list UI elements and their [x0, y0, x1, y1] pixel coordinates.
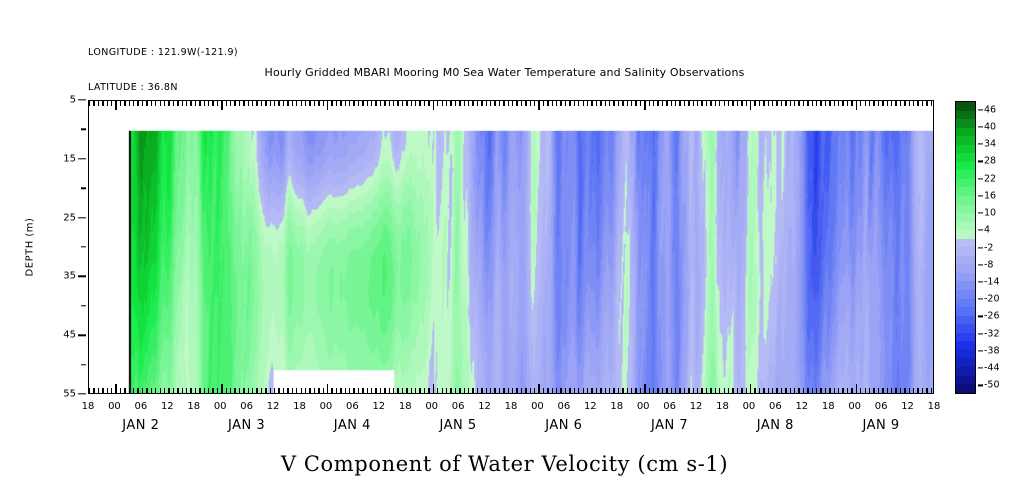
x-tick: [732, 101, 733, 106]
x-tick: [107, 101, 108, 106]
x-tick: [146, 388, 147, 393]
x-tick: [829, 101, 830, 106]
x-tick: [825, 388, 826, 393]
x-tick: [613, 388, 614, 393]
x-tick: [900, 388, 901, 393]
x-tick: [115, 101, 116, 110]
y-tick-label: 5: [70, 95, 76, 106]
colorbar-tick: [978, 143, 983, 144]
x-tick: [768, 101, 769, 106]
x-tick: [547, 101, 548, 106]
x-tick: [534, 101, 535, 106]
x-tick: [825, 101, 826, 106]
x-tick: [812, 388, 813, 393]
colorbar-tick: [978, 247, 983, 248]
colorbar-segment: [956, 205, 975, 214]
x-tick: [274, 101, 275, 106]
x-tick-label: 06: [769, 401, 782, 412]
colorbar-tick: [978, 350, 983, 351]
x-tick: [816, 388, 817, 393]
x-tick: [226, 388, 227, 393]
x-tick: [679, 388, 680, 393]
x-tick: [759, 388, 760, 393]
x-tick: [688, 388, 689, 393]
x-tick: [283, 101, 284, 106]
x-tick-label: 12: [478, 401, 491, 412]
x-tick: [155, 388, 156, 393]
x-tick: [186, 388, 187, 393]
x-tick: [102, 388, 103, 393]
latitude-text: LATITUDE : 36.8N: [88, 82, 238, 94]
x-tick: [292, 101, 293, 106]
x-tick: [164, 101, 165, 106]
x-tick: [565, 101, 566, 106]
x-tick: [270, 388, 271, 393]
x-tick: [402, 101, 403, 106]
x-tick: [124, 101, 125, 106]
x-tick: [137, 388, 138, 393]
x-tick: [926, 388, 927, 393]
x-tick: [248, 101, 249, 106]
x-tick: [375, 388, 376, 393]
x-tick: [212, 388, 213, 393]
x-tick: [182, 388, 183, 393]
x-tick: [384, 101, 385, 106]
colorbar-segment: [956, 247, 975, 256]
x-tick: [662, 101, 663, 106]
x-tick: [433, 384, 434, 393]
x-tick: [790, 388, 791, 393]
colorbar-segment: [956, 102, 975, 111]
x-tick: [776, 388, 777, 393]
x-tick: [503, 388, 504, 393]
x-tick: [358, 388, 359, 393]
x-tick: [785, 388, 786, 393]
colorbar-tick: [978, 161, 983, 162]
colorbar-segment: [956, 119, 975, 128]
x-tick-label: 12: [372, 401, 385, 412]
x-tick: [781, 101, 782, 106]
colorbar-segment: [956, 153, 975, 162]
x-day-label: JAN 3: [228, 418, 265, 433]
x-tick: [675, 388, 676, 393]
x-tick: [256, 388, 257, 393]
x-tick: [428, 101, 429, 106]
x-tick: [706, 388, 707, 393]
x-tick: [530, 101, 531, 106]
x-tick: [521, 388, 522, 393]
x-tick: [393, 101, 394, 106]
x-tick: [737, 388, 738, 393]
x-tick: [565, 388, 566, 393]
y-axis-title: DEPTH (m): [25, 218, 36, 277]
x-tick-label: 00: [425, 401, 438, 412]
colorbar-segment: [956, 162, 975, 171]
colorbar-tick-label: -50: [984, 380, 1000, 391]
x-tick: [649, 101, 650, 106]
x-tick: [186, 101, 187, 106]
x-tick: [785, 101, 786, 106]
x-tick: [591, 101, 592, 106]
colorbar-segment: [956, 136, 975, 145]
x-tick: [411, 388, 412, 393]
x-tick: [552, 388, 553, 393]
x-tick: [600, 101, 601, 106]
x-tick: [204, 388, 205, 393]
x-tick: [847, 388, 848, 393]
colorbar-segment: [956, 341, 975, 350]
colorbar-tick-label: -20: [984, 294, 1000, 305]
x-tick: [486, 388, 487, 393]
x-tick: [234, 388, 235, 393]
y-tick-label: 55: [63, 389, 76, 400]
x-tick: [115, 384, 116, 393]
x-tick: [173, 101, 174, 106]
colorbar-segment: [956, 281, 975, 290]
x-tick: [393, 388, 394, 393]
x-tick: [860, 388, 861, 393]
x-tick: [133, 101, 134, 106]
x-tick: [173, 388, 174, 393]
colorbar-segment: [956, 384, 975, 393]
x-tick: [605, 388, 606, 393]
y-tick: [78, 334, 86, 335]
x-tick: [349, 388, 350, 393]
x-tick: [490, 101, 491, 106]
x-tick: [671, 101, 672, 106]
x-tick: [459, 101, 460, 106]
x-tick: [543, 101, 544, 106]
colorbar-tick: [978, 333, 983, 334]
y-tick-label: 45: [63, 330, 76, 341]
x-tick: [296, 388, 297, 393]
x-tick: [618, 101, 619, 106]
x-tick: [803, 388, 804, 393]
y-tick: [78, 158, 86, 159]
colorbar-tick: [978, 316, 983, 317]
x-tick: [560, 388, 561, 393]
x-tick: [922, 101, 923, 106]
x-tick: [701, 388, 702, 393]
x-tick: [798, 101, 799, 106]
x-tick: [437, 101, 438, 106]
x-tick: [217, 388, 218, 393]
x-tick: [314, 388, 315, 393]
x-day-label: JAN 6: [545, 418, 582, 433]
x-tick: [772, 388, 773, 393]
x-tick: [516, 388, 517, 393]
x-tick: [362, 388, 363, 393]
x-tick: [472, 388, 473, 393]
x-tick: [221, 101, 222, 110]
x-tick: [508, 388, 509, 393]
x-tick: [455, 101, 456, 106]
x-tick: [265, 101, 266, 106]
x-tick: [653, 101, 654, 106]
x-tick: [305, 101, 306, 106]
x-tick: [627, 388, 628, 393]
x-tick: [666, 101, 667, 106]
colorbar: [955, 101, 976, 394]
x-tick: [842, 101, 843, 106]
x-tick-label: 00: [743, 401, 756, 412]
x-tick-label: 00: [320, 401, 333, 412]
x-tick: [89, 101, 90, 106]
colorbar-tick-label: -44: [984, 363, 1000, 374]
colorbar-segment: [956, 230, 975, 239]
x-tick: [107, 388, 108, 393]
colorbar-tick: [978, 212, 983, 213]
x-tick: [301, 101, 302, 106]
x-tick: [468, 388, 469, 393]
colorbar-segment: [956, 376, 975, 385]
longitude-text: LONGITUDE : 121.9W(-121.9): [88, 47, 238, 59]
x-tick: [111, 388, 112, 393]
colorbar-tick-label: -8: [984, 259, 993, 270]
x-tick: [349, 101, 350, 106]
x-tick-label: 12: [161, 401, 174, 412]
x-tick: [895, 101, 896, 106]
x-tick: [693, 388, 694, 393]
colorbar-segment: [956, 299, 975, 308]
x-tick: [900, 101, 901, 106]
x-tick: [622, 388, 623, 393]
x-tick: [737, 101, 738, 106]
x-tick: [133, 388, 134, 393]
colorbar-tick-label: 46: [984, 104, 996, 115]
colorbar-segment: [956, 222, 975, 231]
x-tick: [719, 388, 720, 393]
x-tick: [790, 101, 791, 106]
x-tick: [283, 388, 284, 393]
x-tick: [538, 101, 539, 110]
x-tick: [605, 101, 606, 106]
x-tick: [887, 101, 888, 106]
colorbar-tick-label: -2: [984, 242, 993, 253]
x-tick: [534, 388, 535, 393]
x-tick: [98, 101, 99, 106]
x-tick: [887, 388, 888, 393]
x-tick: [362, 101, 363, 106]
x-tick: [226, 101, 227, 106]
x-tick: [865, 101, 866, 106]
x-tick: [543, 388, 544, 393]
x-tick: [724, 388, 725, 393]
x-tick: [248, 388, 249, 393]
x-tick-label: 06: [346, 401, 359, 412]
x-tick: [503, 101, 504, 106]
colorbar-tick: [978, 368, 983, 369]
x-tick: [234, 101, 235, 106]
x-tick: [759, 101, 760, 106]
x-tick: [239, 388, 240, 393]
x-tick: [323, 101, 324, 106]
x-tick: [389, 388, 390, 393]
x-tick: [345, 101, 346, 106]
x-tick: [574, 101, 575, 106]
x-tick: [129, 101, 130, 106]
x-tick: [481, 101, 482, 106]
x-tick: [728, 101, 729, 106]
x-tick: [486, 101, 487, 106]
x-tick-label: 00: [848, 401, 861, 412]
x-tick: [256, 101, 257, 106]
x-tick: [516, 101, 517, 106]
x-tick: [622, 101, 623, 106]
x-tick: [640, 388, 641, 393]
x-tick: [314, 101, 315, 106]
x-tick: [798, 388, 799, 393]
colorbar-tick-label: 10: [984, 208, 996, 219]
x-tick-label: 00: [531, 401, 544, 412]
x-day-label: JAN 8: [757, 418, 794, 433]
colorbar-segment: [956, 111, 975, 120]
x-tick: [415, 388, 416, 393]
x-tick: [252, 101, 253, 106]
colorbar-segment: [956, 264, 975, 273]
x-tick: [909, 101, 910, 106]
x-tick: [327, 384, 328, 393]
x-tick: [768, 388, 769, 393]
x-tick: [230, 388, 231, 393]
x-tick: [419, 388, 420, 393]
x-tick: [587, 388, 588, 393]
x-tick: [309, 101, 310, 106]
y-tick-label: 25: [63, 212, 76, 223]
x-tick: [146, 101, 147, 106]
x-tick: [842, 388, 843, 393]
x-day-label: JAN 9: [863, 418, 900, 433]
x-tick-label: 00: [214, 401, 227, 412]
x-tick: [406, 388, 407, 393]
x-tick: [239, 101, 240, 106]
x-tick: [882, 388, 883, 393]
x-tick: [98, 388, 99, 393]
x-tick: [609, 101, 610, 106]
x-tick: [160, 101, 161, 106]
colorbar-segment: [956, 196, 975, 205]
x-tick: [904, 101, 905, 106]
x-tick: [556, 101, 557, 106]
x-tick-label: 18: [822, 401, 835, 412]
x-tick: [710, 388, 711, 393]
x-tick: [428, 388, 429, 393]
x-tick: [909, 388, 910, 393]
x-tick: [331, 101, 332, 106]
x-tick: [287, 101, 288, 106]
x-tick: [155, 101, 156, 106]
x-tick: [274, 388, 275, 393]
x-tick: [609, 388, 610, 393]
x-tick: [190, 101, 191, 106]
x-tick: [367, 388, 368, 393]
x-tick: [371, 101, 372, 106]
colorbar-tick-label: -38: [984, 345, 1000, 356]
x-tick: [807, 101, 808, 106]
x-tick: [340, 101, 341, 106]
x-tick: [693, 101, 694, 106]
x-tick: [706, 101, 707, 106]
x-tick: [367, 101, 368, 106]
x-tick: [402, 388, 403, 393]
x-tick: [292, 388, 293, 393]
x-tick: [525, 388, 526, 393]
x-tick: [596, 388, 597, 393]
x-tick: [375, 101, 376, 106]
x-tick: [675, 101, 676, 106]
x-tick: [323, 388, 324, 393]
x-tick-label: 12: [795, 401, 808, 412]
colorbar-tick: [978, 281, 983, 282]
x-tick: [424, 101, 425, 106]
x-day-label: JAN 5: [440, 418, 477, 433]
x-tick: [657, 388, 658, 393]
x-tick: [913, 101, 914, 106]
y-tick: [78, 276, 86, 277]
x-tick: [230, 101, 231, 106]
x-tick: [715, 101, 716, 106]
x-tick: [715, 388, 716, 393]
y-tick: [81, 246, 86, 247]
x-tick: [684, 388, 685, 393]
x-tick: [763, 101, 764, 106]
x-tick: [261, 101, 262, 106]
x-tick: [177, 101, 178, 106]
x-tick: [243, 101, 244, 106]
x-tick: [724, 101, 725, 106]
x-tick: [587, 101, 588, 106]
x-tick: [873, 388, 874, 393]
colorbar-tick: [978, 299, 983, 300]
x-tick: [318, 101, 319, 106]
x-tick: [160, 388, 161, 393]
x-tick: [512, 388, 513, 393]
x-tick: [671, 388, 672, 393]
x-tick: [891, 101, 892, 106]
x-tick: [820, 101, 821, 106]
colorbar-tick: [978, 264, 983, 265]
x-tick: [856, 384, 857, 393]
x-tick: [684, 101, 685, 106]
chart-title: Hourly Gridded MBARI Mooring M0 Sea Wate…: [0, 66, 1009, 79]
x-tick: [882, 101, 883, 106]
x-tick: [252, 388, 253, 393]
x-tick: [913, 388, 914, 393]
x-tick: [530, 388, 531, 393]
x-tick: [754, 101, 755, 106]
x-tick: [521, 101, 522, 106]
colorbar-tick: [978, 126, 983, 127]
x-tick: [869, 388, 870, 393]
x-tick: [208, 101, 209, 106]
x-tick-label: 12: [690, 401, 703, 412]
x-tick: [741, 388, 742, 393]
x-tick: [860, 101, 861, 106]
x-tick: [719, 101, 720, 106]
x-tick: [380, 388, 381, 393]
x-tick: [124, 388, 125, 393]
x-tick: [265, 388, 266, 393]
x-tick: [741, 101, 742, 106]
colorbar-tick: [978, 178, 983, 179]
x-tick: [931, 101, 932, 106]
x-tick: [221, 384, 222, 393]
x-tick-label: 18: [610, 401, 623, 412]
x-tick: [838, 101, 839, 106]
x-tick: [327, 101, 328, 110]
heatmap-canvas: [89, 101, 933, 393]
x-tick: [873, 101, 874, 106]
